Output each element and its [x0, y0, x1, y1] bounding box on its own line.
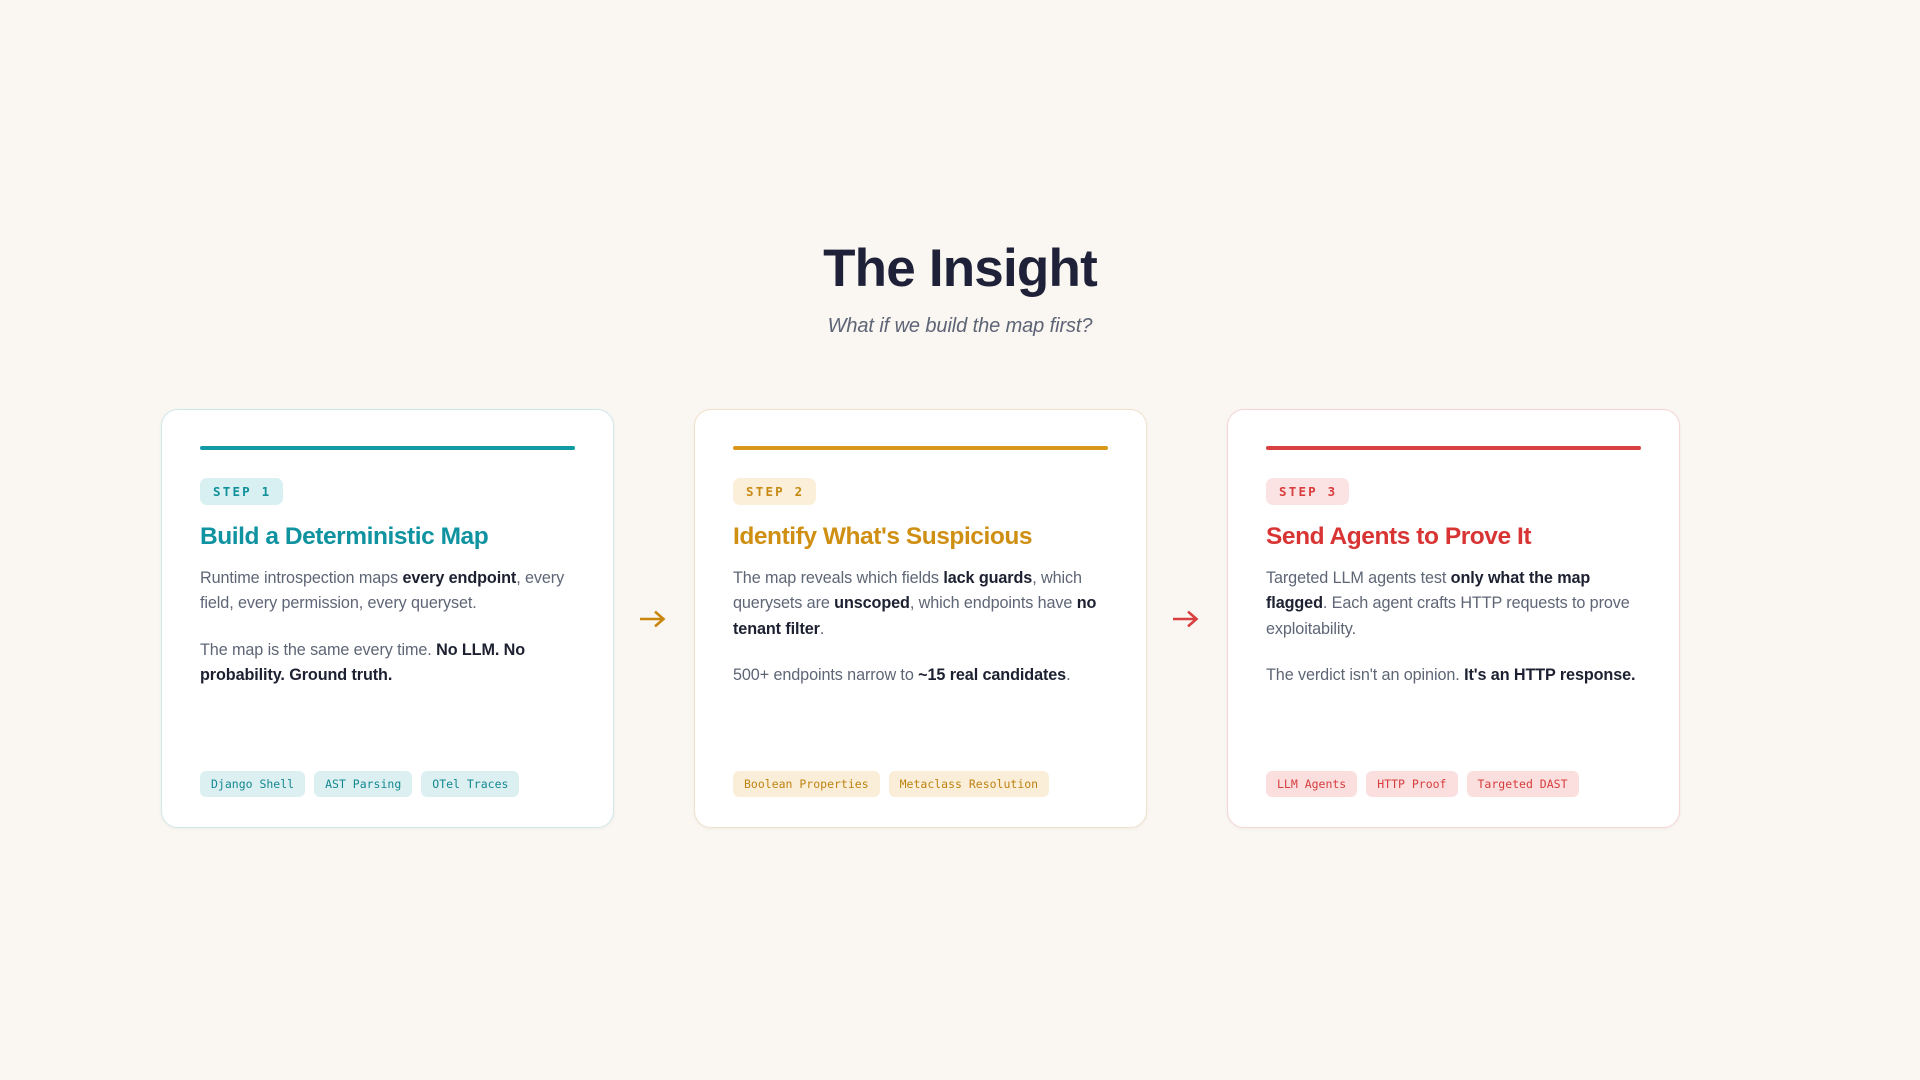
tag-item[interactable]: OTel Traces [421, 771, 519, 797]
steps-row: STEP 1 Build a Deterministic Map Runtime… [161, 409, 1761, 829]
tag-item[interactable]: Targeted DAST [1467, 771, 1579, 797]
step-body2-1: The map is the same every time. No LLM. … [200, 638, 575, 689]
step-card-3[interactable]: STEP 3 Send Agents to Prove It Targeted … [1227, 409, 1680, 828]
card-accent-bar [733, 446, 1108, 450]
tag-item[interactable]: HTTP Proof [1366, 771, 1457, 797]
body2-emphasis: It's an HTTP response. [1464, 666, 1635, 684]
card-accent-bar [1266, 446, 1641, 450]
step-badge-1: STEP 1 [200, 478, 283, 505]
body-emphasis: every endpoint [402, 569, 516, 587]
connector-2 [1147, 409, 1227, 828]
step-tags-3: LLM Agents HTTP Proof Targeted DAST [1266, 751, 1641, 797]
tag-item[interactable]: LLM Agents [1266, 771, 1357, 797]
tag-item[interactable]: Boolean Properties [733, 771, 880, 797]
tag-item[interactable]: Django Shell [200, 771, 305, 797]
body-lead: The map reveals which fields [733, 569, 943, 587]
step-tags-2: Boolean Properties Metaclass Resolution [733, 751, 1108, 797]
card-accent-bar [200, 446, 575, 450]
step-badge-3: STEP 3 [1266, 478, 1349, 505]
connector-1 [614, 409, 694, 828]
body-emphasis: lack guards [943, 569, 1032, 587]
step-heading-1: Build a Deterministic Map [200, 523, 575, 551]
arrow-right-icon [639, 610, 669, 628]
body-rest: . [820, 620, 824, 638]
body-lead: Targeted LLM agents test [1266, 569, 1451, 587]
body2-emphasis: ~15 real candidates [918, 666, 1066, 684]
step-body-1: Runtime introspection maps every endpoin… [200, 566, 575, 617]
step-body2-2: 500+ endpoints narrow to ~15 real candid… [733, 663, 1108, 688]
page-subtitle: What if we build the map first? [0, 315, 1920, 338]
step-body2-3: The verdict isn't an opinion. It's an HT… [1266, 663, 1641, 688]
step-body-3: Targeted LLM agents test only what the m… [1266, 566, 1641, 642]
step-body-2: The map reveals which fields lack guards… [733, 566, 1108, 642]
body2-lead: 500+ endpoints narrow to [733, 666, 918, 684]
body2-rest: . [1066, 666, 1070, 684]
body2-lead: The map is the same every time. [200, 641, 436, 659]
step-heading-2: Identify What's Suspicious [733, 523, 1108, 551]
step-tags-1: Django Shell AST Parsing OTel Traces [200, 751, 575, 797]
insight-page: The Insight What if we build the map fir… [0, 0, 1920, 1080]
body-emphasis: unscoped [834, 594, 910, 612]
tag-item[interactable]: AST Parsing [314, 771, 412, 797]
page-title: The Insight [0, 240, 1920, 298]
tag-item[interactable]: Metaclass Resolution [889, 771, 1049, 797]
arrow-right-icon [1172, 610, 1202, 628]
body-mid: , which endpoints have [910, 594, 1077, 612]
body-lead: Runtime introspection maps [200, 569, 402, 587]
body2-lead: The verdict isn't an opinion. [1266, 666, 1464, 684]
page-header: The Insight What if we build the map fir… [0, 240, 1920, 338]
step-heading-3: Send Agents to Prove It [1266, 523, 1641, 551]
step-card-2[interactable]: STEP 2 Identify What's Suspicious The ma… [694, 409, 1147, 828]
step-badge-2: STEP 2 [733, 478, 816, 505]
step-card-1[interactable]: STEP 1 Build a Deterministic Map Runtime… [161, 409, 614, 828]
